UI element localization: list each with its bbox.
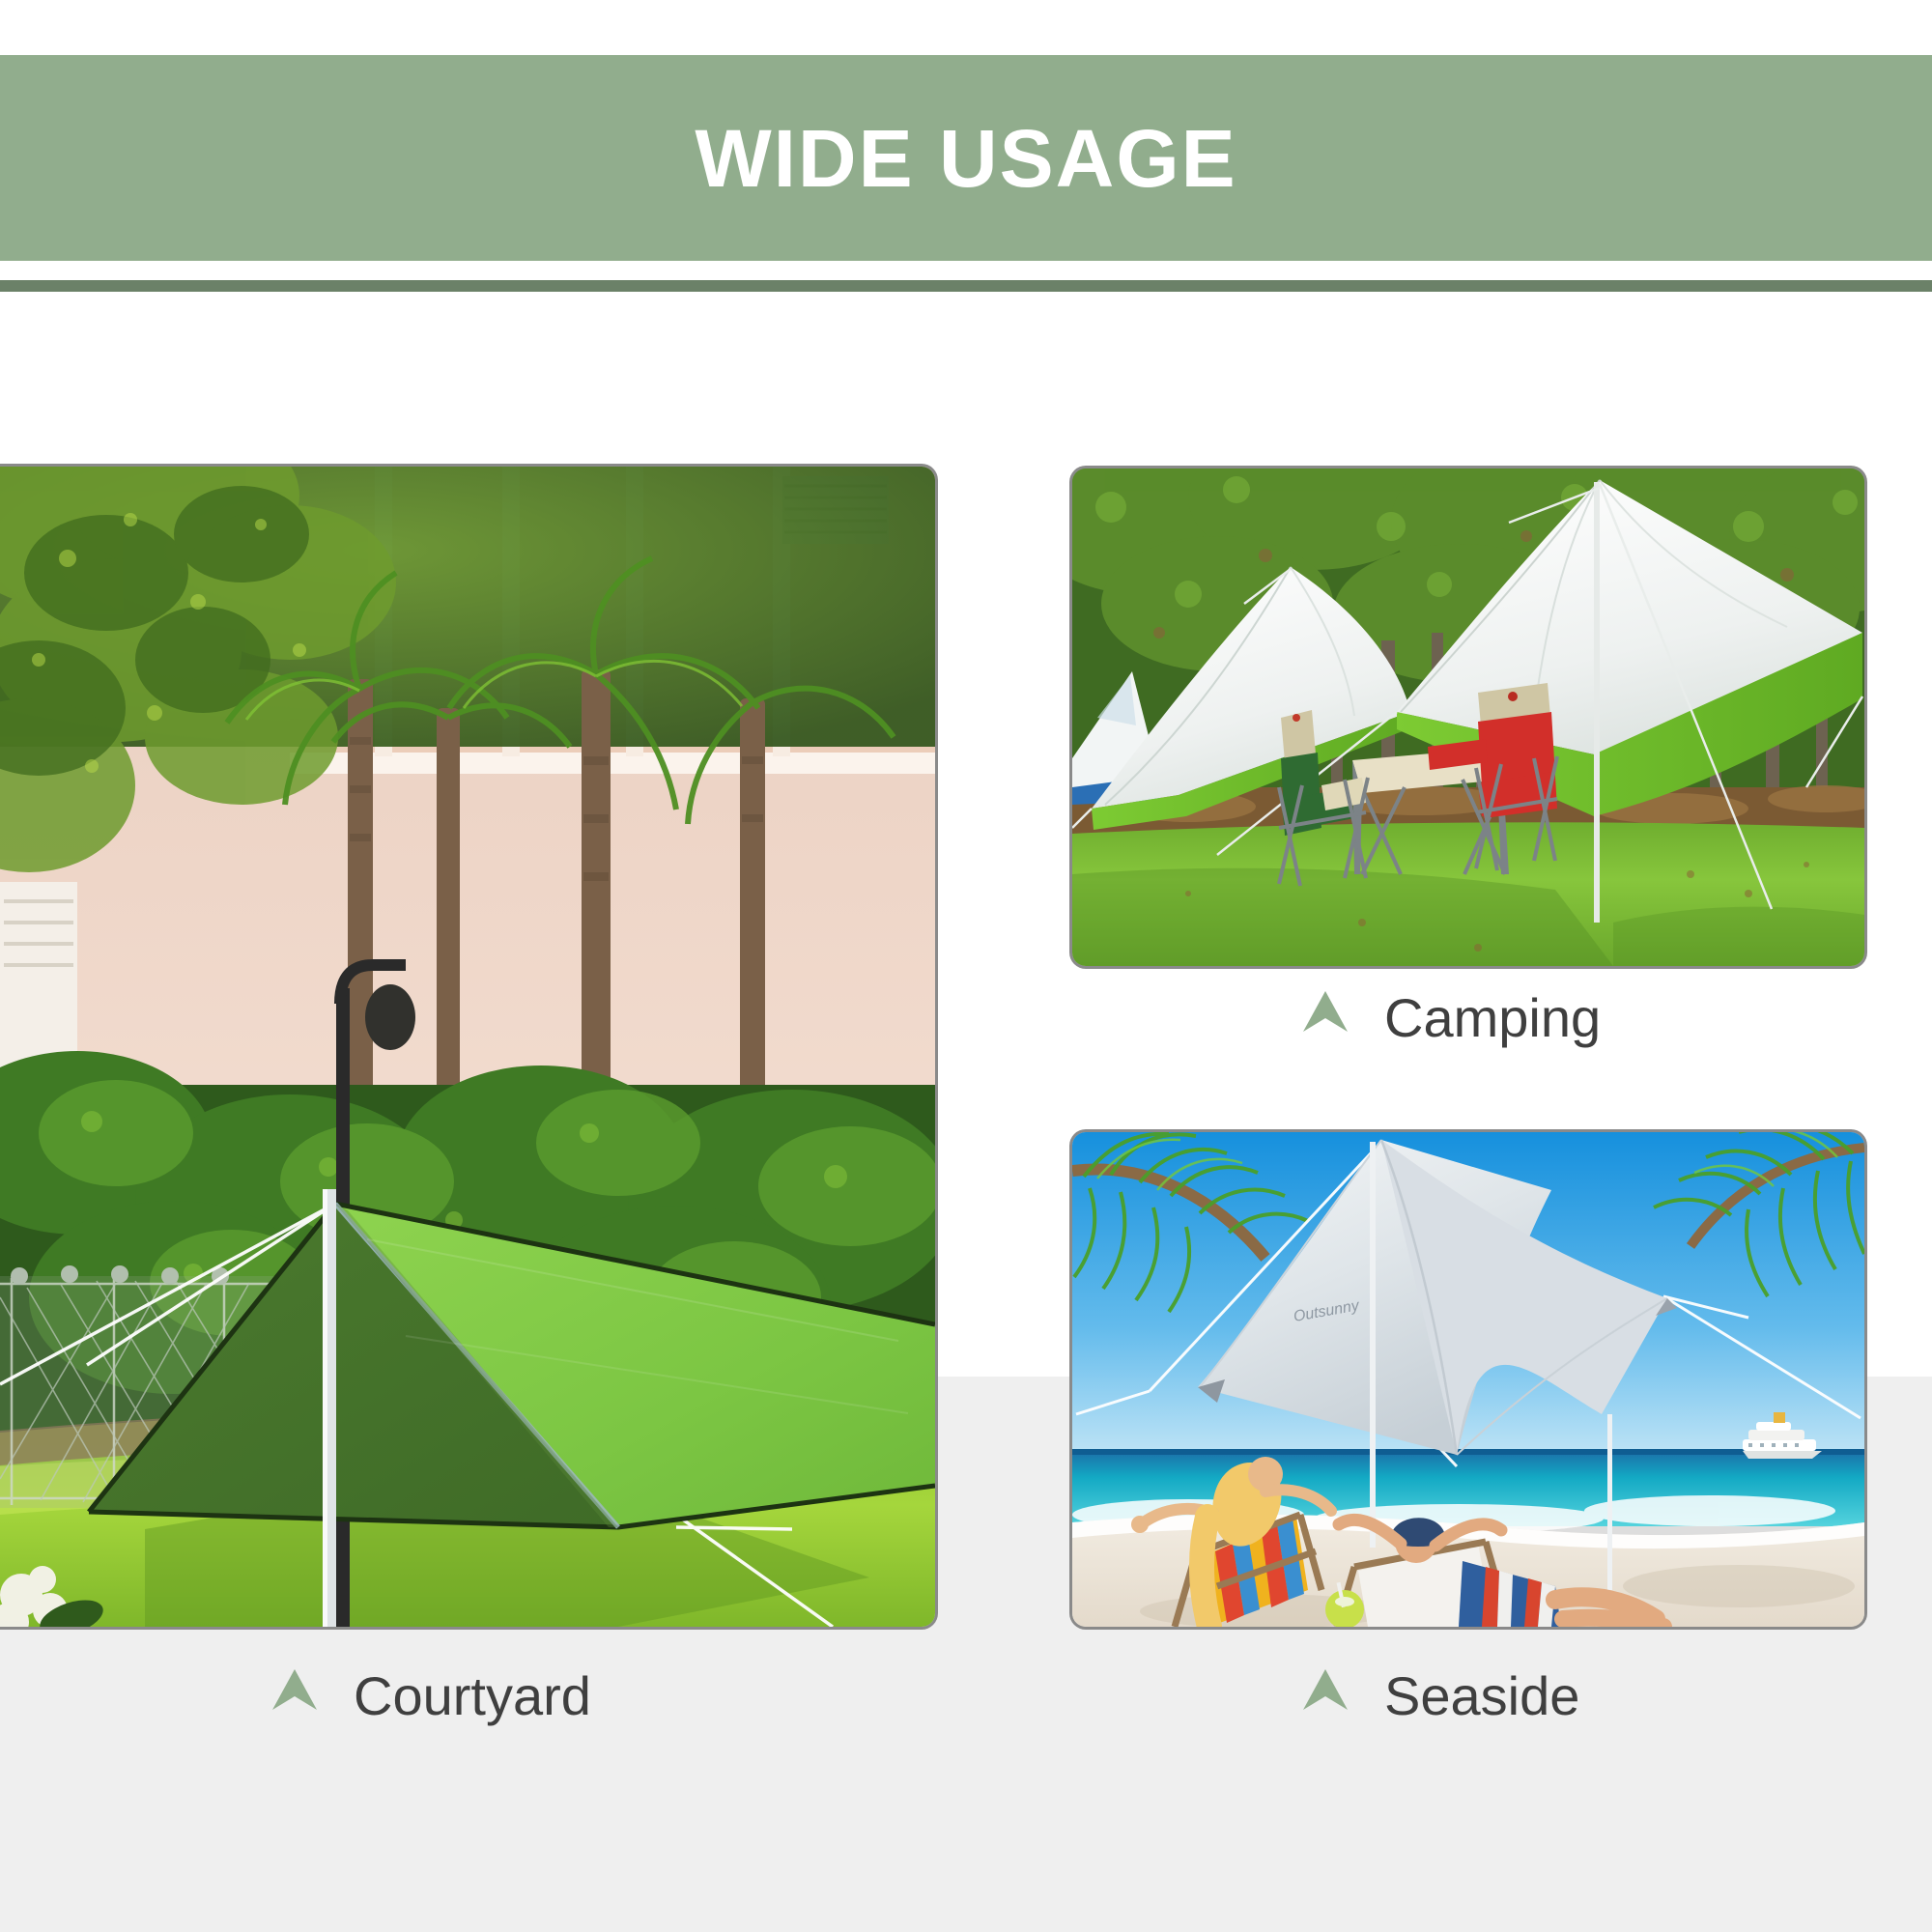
photo-seaside: Outsunny	[1072, 1132, 1864, 1627]
up-triangle-marker-icon	[1299, 1663, 1351, 1728]
caption-courtyard-label: Courtyard	[354, 1664, 591, 1727]
up-triangle-marker-icon	[269, 1663, 321, 1728]
photo-camping	[1072, 469, 1864, 966]
caption-camping: Camping	[1299, 985, 1601, 1050]
up-triangle-marker-icon	[1299, 985, 1351, 1050]
caption-seaside-label: Seaside	[1384, 1664, 1579, 1727]
courtyard-scene-illustration	[0, 467, 935, 1627]
caption-courtyard: Courtyard	[269, 1663, 591, 1728]
header-divider-rule	[0, 280, 1932, 292]
caption-camping-label: Camping	[1384, 986, 1601, 1049]
camping-scene-illustration	[1072, 469, 1864, 966]
caption-seaside: Seaside	[1299, 1663, 1579, 1728]
page-title: WIDE USAGE	[695, 118, 1236, 199]
seaside-scene-illustration: Outsunny	[1072, 1132, 1864, 1627]
photo-courtyard	[0, 467, 935, 1627]
header-band: WIDE USAGE	[0, 55, 1932, 261]
